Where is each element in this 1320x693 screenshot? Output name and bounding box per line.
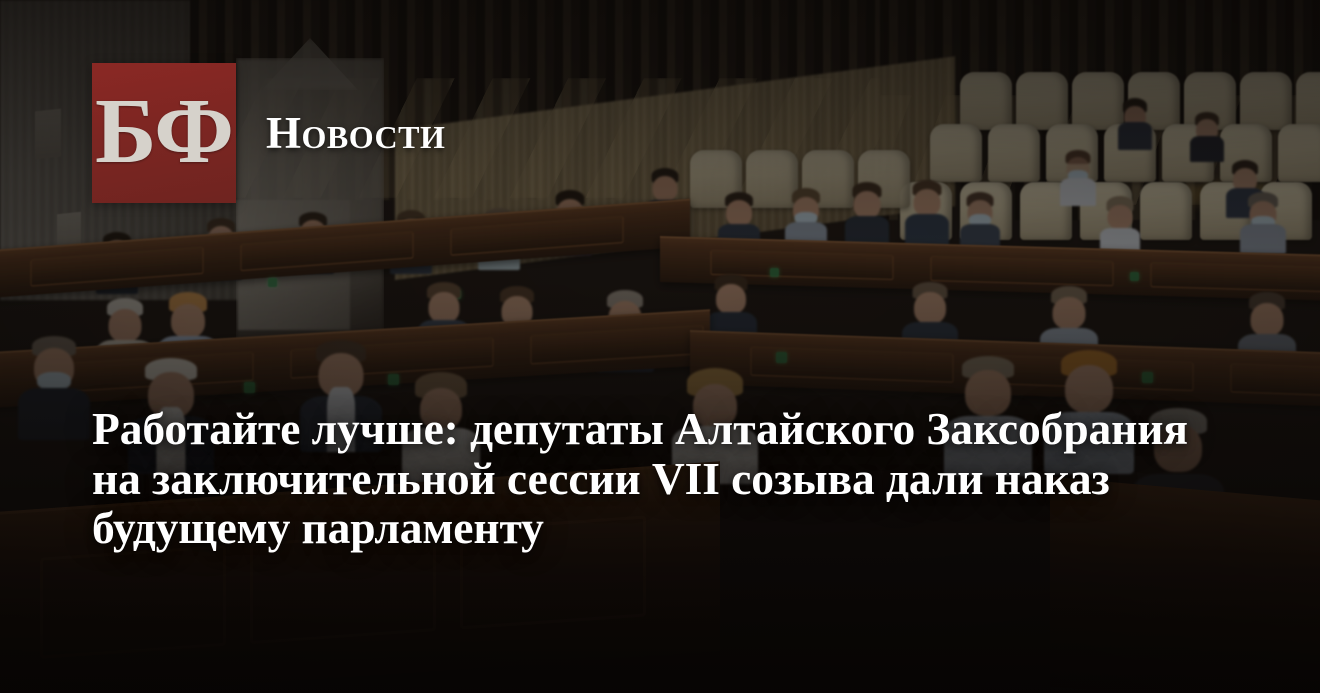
section-label: Новости [266, 107, 445, 159]
news-cover-card: БФ Новости Работайте лучше: депутаты Алт… [0, 0, 1320, 693]
brand-block: БФ Новости [92, 63, 445, 203]
logo-text: БФ [95, 85, 233, 182]
headline: Работайте лучше: депутаты Алтайского Зак… [92, 404, 1228, 553]
logo-badge: БФ [92, 63, 236, 203]
